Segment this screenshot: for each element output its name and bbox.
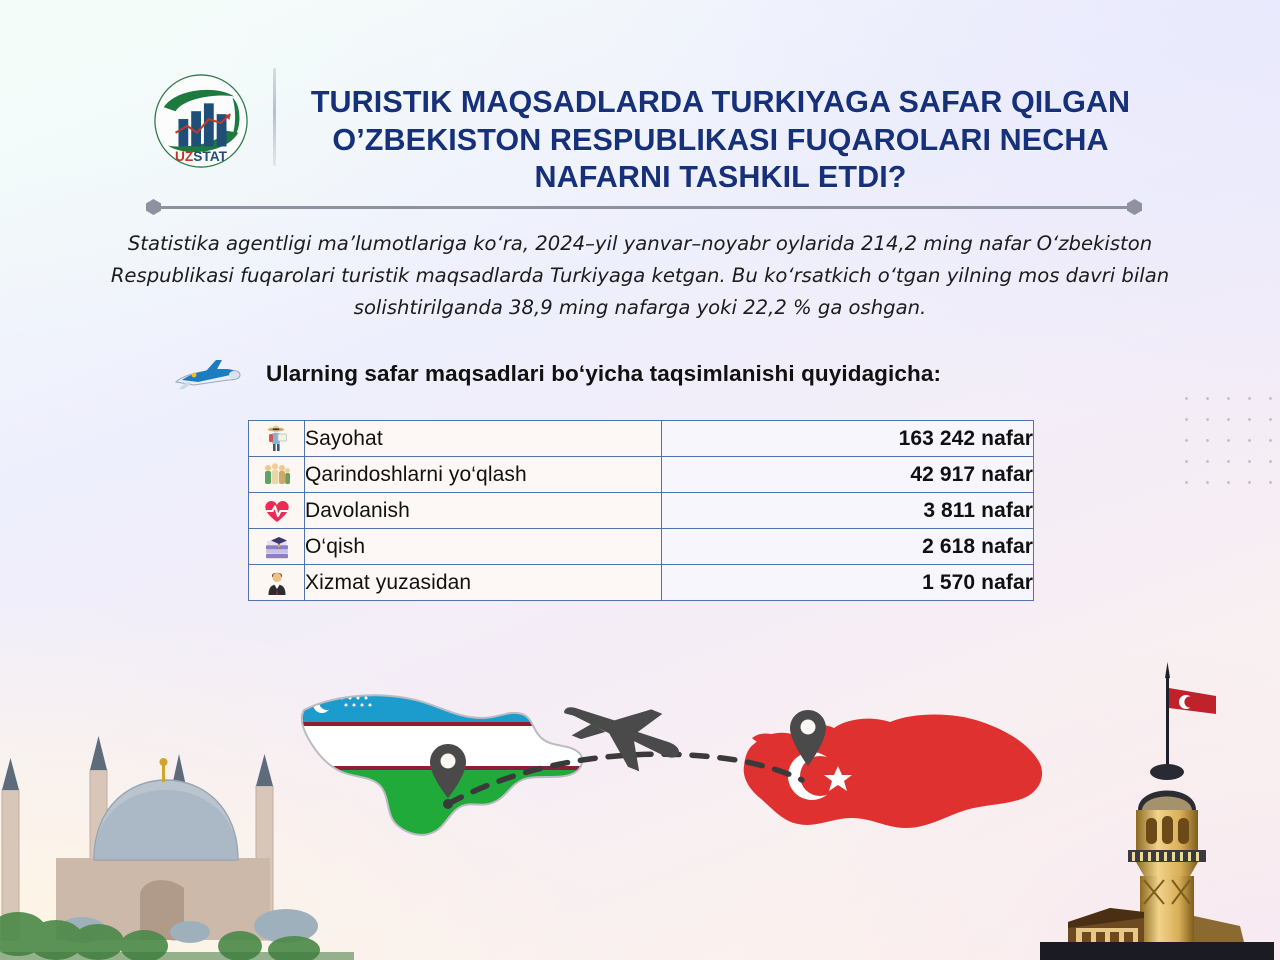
table-row: Xizmat yuzasidan 1 570 nafar [249, 565, 1034, 601]
subtitle-row: Ularning safar maqsadlari bo‘yicha taqsi… [170, 352, 941, 396]
table-body: Sayohat 163 242 nafar Qarindoshlarni yo‘… [249, 421, 1034, 601]
row-icon-cell [249, 529, 305, 565]
logo-container: UZSTAT [145, 62, 257, 170]
row-value: 163 242 nafar [662, 421, 1034, 457]
divider-cap-left [146, 199, 161, 215]
uzstat-logo: UZSTAT [152, 72, 250, 170]
books-icon [262, 532, 292, 562]
dot-grid-decoration [1176, 388, 1272, 492]
family-icon [262, 460, 292, 490]
title-line-2: O’ZBEKISTON RESPUBLIKASI FUQAROLARI NECH… [306, 122, 1136, 160]
row-label: O‘qish [305, 529, 662, 565]
divider [146, 199, 1142, 215]
maps-and-route [286, 648, 1054, 878]
maidens-tower [1040, 660, 1274, 960]
heart-pulse-icon [262, 496, 292, 526]
route-start-dot [443, 799, 453, 809]
row-value: 42 917 nafar [662, 457, 1034, 493]
row-icon-cell [249, 493, 305, 529]
row-icon-cell [249, 457, 305, 493]
tourist-icon [262, 424, 292, 454]
row-label: Davolanish [305, 493, 662, 529]
row-icon-cell [249, 565, 305, 601]
table-row: Davolanish 3 811 nafar [249, 493, 1034, 529]
bottom-illustration [0, 600, 1280, 960]
table-row: Qarindoshlarni yo‘qlash 42 917 nafar [249, 457, 1034, 493]
row-value: 3 811 nafar [662, 493, 1034, 529]
header-separator [273, 68, 276, 166]
row-icon-cell [249, 421, 305, 457]
subtitle-text: Ularning safar maqsadlari bo‘yicha taqsi… [266, 361, 941, 387]
table-row: O‘qish 2 618 nafar [249, 529, 1034, 565]
header: UZSTAT TURISTIK MAQSADLARDA TURKIYAGA SA… [0, 62, 1280, 197]
row-label: Qarindoshlarni yo‘qlash [305, 457, 662, 493]
title-line-3: NAFARNI TASHKIL ETDI? [306, 159, 1136, 197]
divider-cap-right [1127, 199, 1142, 215]
svg-text:UZSTAT: UZSTAT [174, 149, 227, 164]
airplane-icon [170, 352, 250, 396]
page-title: TURISTIK MAQSADLARDA TURKIYAGA SAFAR QIL… [306, 62, 1136, 197]
hagia-sophia [0, 728, 354, 960]
logo-text-stat: STAT [193, 149, 227, 164]
purpose-breakdown-table: Sayohat 163 242 nafar Qarindoshlarni yo‘… [248, 420, 1034, 601]
row-value: 1 570 nafar [662, 565, 1034, 601]
row-label: Xizmat yuzasidan [305, 565, 662, 601]
row-value: 2 618 nafar [662, 529, 1034, 565]
row-label: Sayohat [305, 421, 662, 457]
intro-paragraph: Statistika agentligi ma’lumotlariga ko‘r… [86, 228, 1194, 324]
logo-text-uz: UZ [174, 149, 192, 164]
title-line-1: TURISTIK MAQSADLARDA TURKIYAGA SAFAR QIL… [306, 84, 1136, 122]
infographic-canvas: UZSTAT TURISTIK MAQSADLARDA TURKIYAGA SA… [0, 0, 1280, 960]
businessman-icon [262, 568, 292, 598]
divider-bar [161, 206, 1127, 209]
table-row: Sayohat 163 242 nafar [249, 421, 1034, 457]
